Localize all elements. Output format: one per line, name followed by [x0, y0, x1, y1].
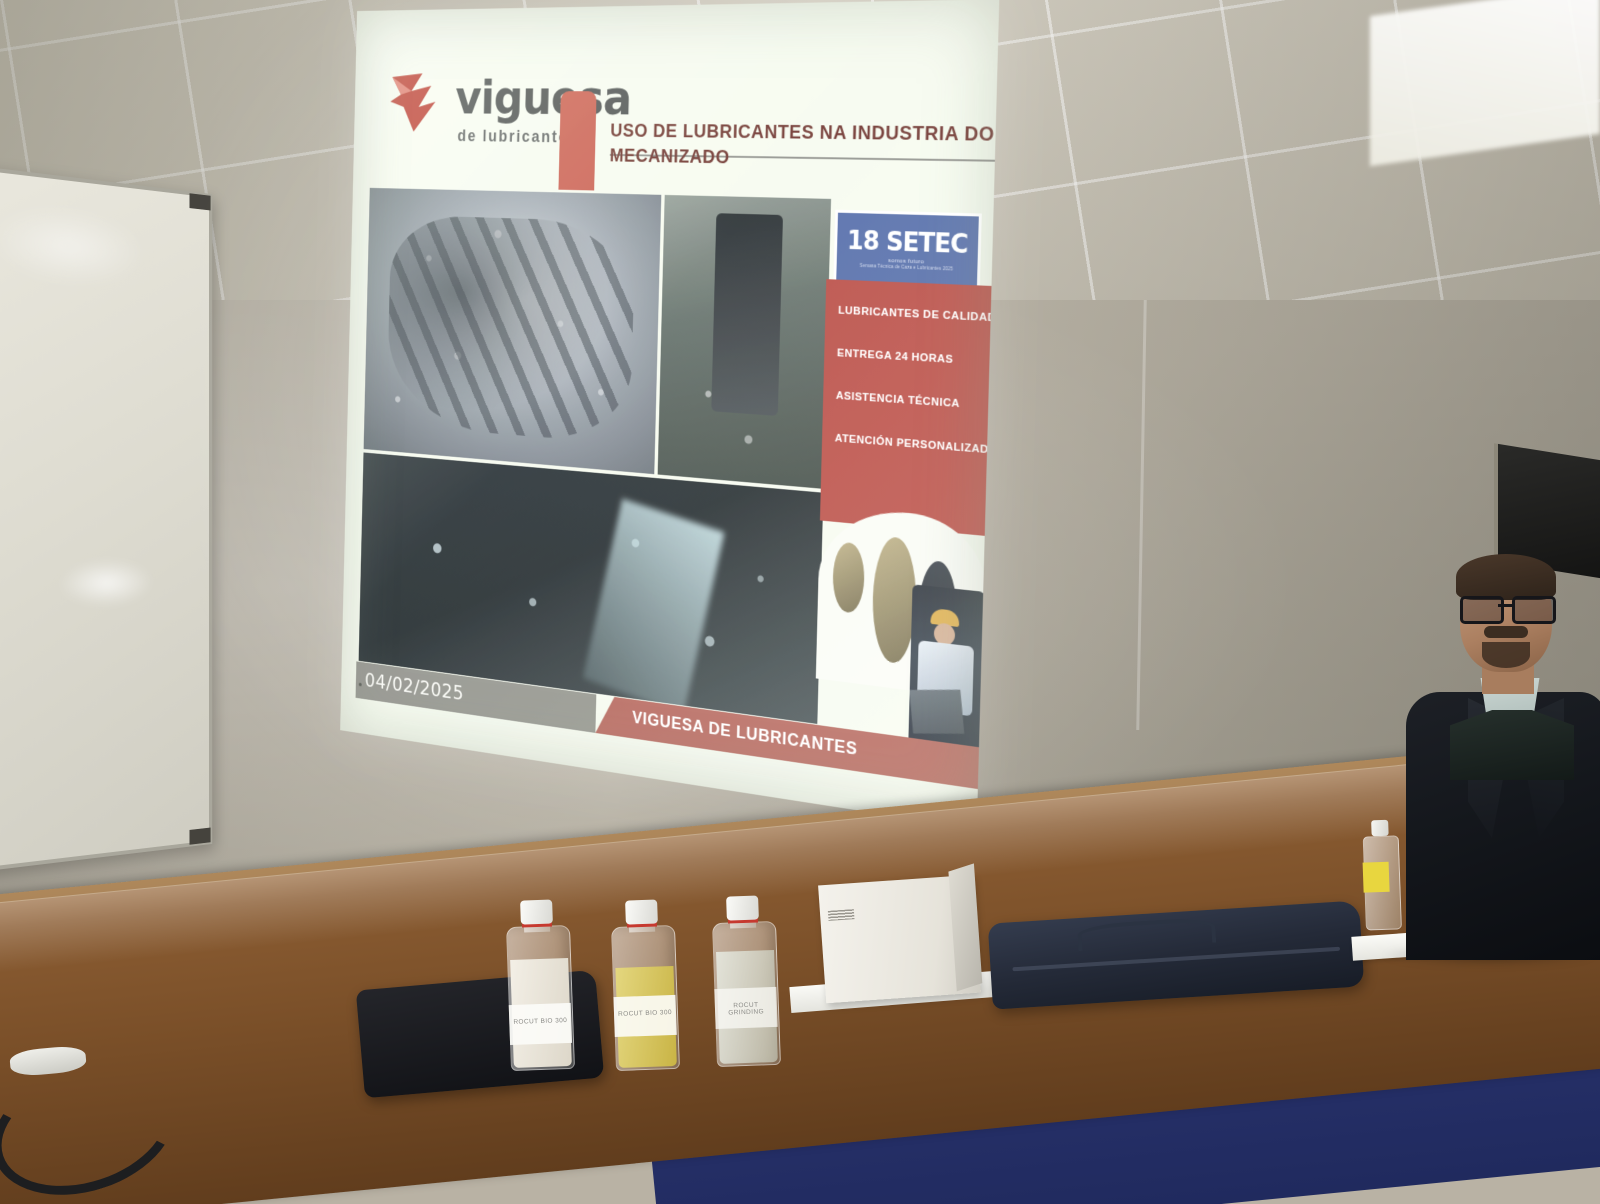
whiteboard-corner-bracket	[189, 828, 210, 845]
bottle-cap	[520, 899, 553, 924]
photo-gear-coolant-image	[364, 188, 662, 474]
glasses-icon	[1458, 596, 1554, 618]
water-bottle-cap	[1371, 820, 1389, 837]
bottle-label: ROCUT BIO 300	[509, 1003, 572, 1045]
presentation-room-scene: viguesa de lubricantes USO DE LUBRICANTE…	[0, 0, 1600, 1204]
setec-logo-main: 18 SETEC	[847, 227, 968, 260]
presenter-hair	[1456, 554, 1556, 600]
bottle-cap	[726, 895, 759, 920]
whiteboard-glare-2	[0, 199, 147, 292]
benefit-item: LUBRICANTES DE CALIDAD	[838, 305, 996, 324]
glasses-lens-right	[1512, 596, 1556, 624]
laptop-icon	[909, 690, 964, 734]
benefit-item: ATENCIÓN PERSONALIZADA	[835, 433, 998, 457]
sample-bottle-amber: ROCUT BIO 300	[610, 899, 678, 1069]
logo-wordmark: viguesa	[455, 71, 632, 127]
bottle-label: ROCUT BIO 300	[613, 995, 676, 1037]
bottle-label-text: ROCUT BIO 300	[509, 1017, 571, 1026]
box-printed-code	[828, 909, 855, 921]
setec-logo: 18 SETEC somos futuro Semana Técnica de …	[833, 210, 981, 290]
bag-seam	[1013, 946, 1340, 971]
photo-mill-spindle-image	[658, 195, 831, 489]
glasses-lens-left	[1460, 596, 1504, 624]
projected-slide: viguesa de lubricantes USO DE LUBRICANTE…	[340, 0, 999, 829]
photo-mill-spindle	[655, 192, 834, 492]
bottle-body	[506, 925, 575, 1071]
sample-bottle-white: ROCUT BIO 300	[505, 899, 573, 1069]
white-product-box	[818, 875, 981, 1004]
setec-logo-inner: 18 SETEC somos futuro Semana Técnica de …	[836, 213, 979, 287]
sample-bottle-clear: ROCUT GRINDING	[711, 895, 779, 1065]
whiteboard	[0, 165, 212, 873]
photo-gear-coolant	[361, 185, 664, 477]
presenter-goatee	[1482, 642, 1530, 668]
bag-handle	[1077, 916, 1216, 951]
whiteboard-glare	[58, 558, 154, 608]
bottle-cap	[625, 899, 658, 924]
viguesa-logo-icon	[388, 72, 445, 134]
presenter-sweater	[1450, 710, 1574, 780]
bottle-label: ROCUT GRINDING	[714, 987, 777, 1029]
slide-title: USO DE LUBRICANTES NA INDUSTRIA DO MECAN…	[609, 119, 996, 176]
slide-surface: viguesa de lubricantes USO DE LUBRICANTE…	[340, 0, 999, 829]
setec-logo-subtagline: Semana Técnica de Caza e Lubricantes 202…	[860, 263, 953, 271]
benefit-item: ASISTENCIA TÉCNICA	[836, 390, 960, 410]
water-bottle	[1362, 819, 1400, 928]
presenter-moustache	[1484, 626, 1528, 638]
bottle-label-text: ROCUT GRINDING	[715, 1001, 777, 1017]
footer-dot	[359, 683, 362, 687]
benefits-panel: LUBRICANTES DE CALIDAD ENTREGA 24 HORAS …	[820, 279, 994, 536]
whiteboard-corner-bracket	[189, 193, 210, 210]
bottle-label-text: ROCUT BIO 300	[614, 1009, 676, 1018]
benefit-item: ENTREGA 24 HORAS	[837, 347, 954, 365]
glasses-bridge	[1498, 604, 1514, 607]
water-bottle-label	[1363, 862, 1390, 893]
presenter-person	[1398, 560, 1600, 960]
